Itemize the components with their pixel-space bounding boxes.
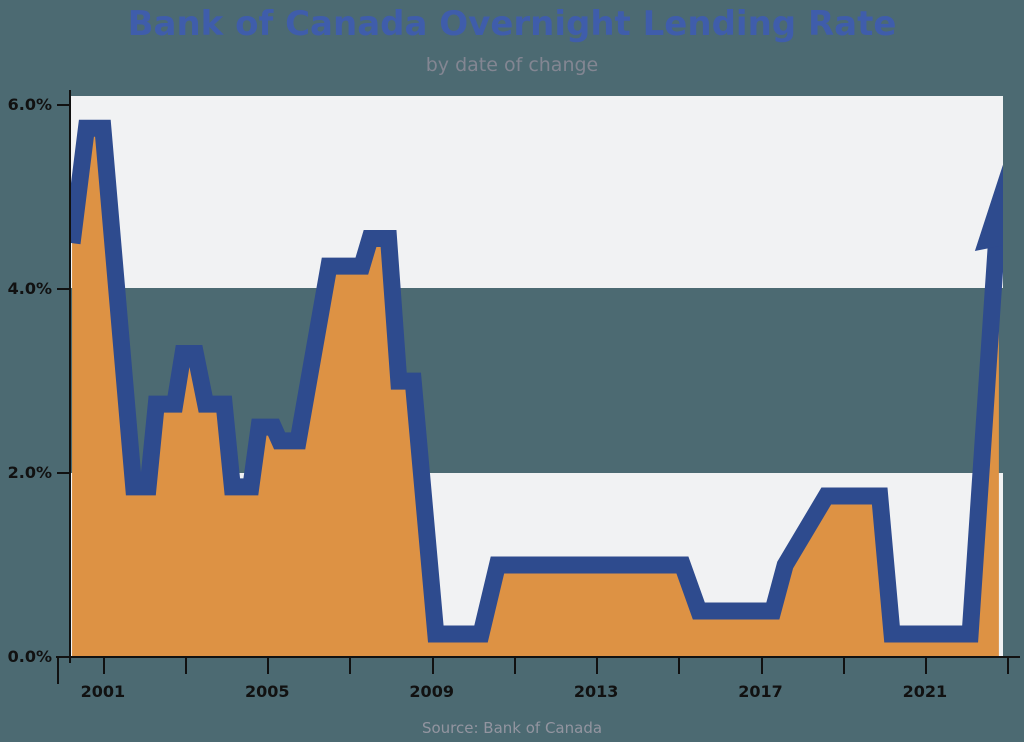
plot-area xyxy=(70,96,1003,657)
x-tick-2015 xyxy=(678,658,680,674)
source-note: Source: Bank of Canada xyxy=(0,718,1024,738)
x-tick-label-2021: 2021 xyxy=(903,682,948,701)
rate-series xyxy=(70,96,1003,657)
up-arrow-icon xyxy=(975,165,1003,251)
y-axis-line xyxy=(69,90,71,663)
x-tick-2021 xyxy=(925,658,927,674)
x-tick-label-2013: 2013 xyxy=(574,682,619,701)
x-tick-label-2009: 2009 xyxy=(409,682,454,701)
y-tick-label-2: 4.0% xyxy=(0,281,52,297)
chart-title: Bank of Canada Overnight Lending Rate xyxy=(0,2,1024,46)
x-tick-label-2017: 2017 xyxy=(738,682,783,701)
x-tick-2019 xyxy=(843,658,845,674)
x-tick-2003 xyxy=(185,658,187,674)
y-tick-label-0: 0.0% xyxy=(0,649,52,665)
x-tick-2007 xyxy=(349,658,351,674)
y-tick-2 xyxy=(57,288,70,290)
x-tick-2009 xyxy=(432,658,434,674)
x-tick-2023 xyxy=(1007,658,1009,674)
y-tick-label-3: 6.0% xyxy=(0,97,52,113)
x-tick-2001 xyxy=(103,658,105,674)
x-tick-2011 xyxy=(514,658,516,674)
x-tick-2013 xyxy=(596,658,598,674)
y-tick-3 xyxy=(57,104,70,106)
x-tick-2005 xyxy=(267,658,269,674)
y-tick-1 xyxy=(57,472,70,474)
x-tick-2017 xyxy=(761,658,763,674)
x-tick-label-2001: 2001 xyxy=(81,682,126,701)
x-axis-origin-tick xyxy=(57,658,59,684)
x-axis-line xyxy=(56,656,1020,658)
chart-subtitle: by date of change xyxy=(0,52,1024,78)
y-tick-label-1: 2.0% xyxy=(0,465,52,481)
chart-container: Bank of Canada Overnight Lending Rate by… xyxy=(0,0,1024,742)
x-tick-label-2005: 2005 xyxy=(245,682,290,701)
